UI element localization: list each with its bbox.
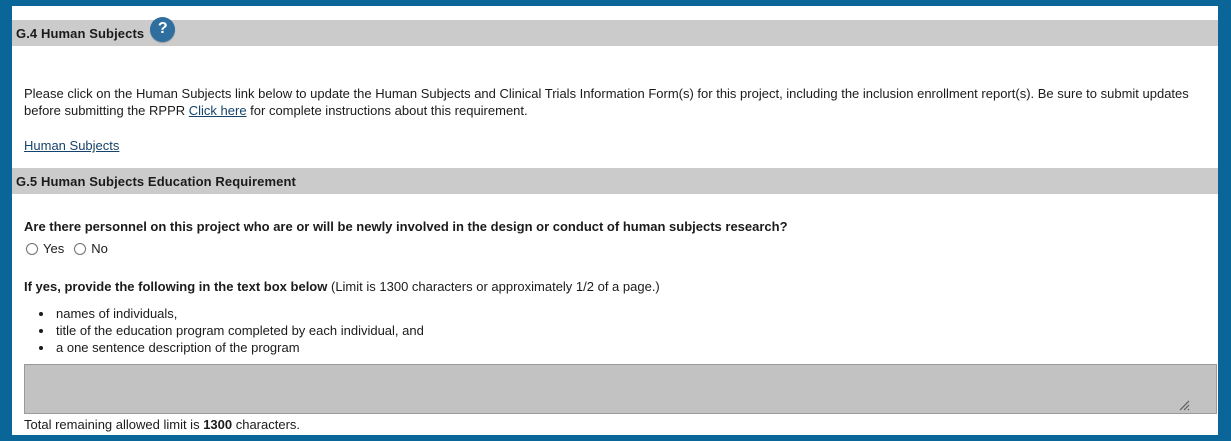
section-title-g4: G.4 Human Subjects bbox=[12, 26, 144, 41]
radio-no-label: No bbox=[91, 241, 108, 256]
radio-option-yes[interactable]: Yes bbox=[26, 241, 64, 256]
radio-yes-label: Yes bbox=[43, 241, 64, 256]
ifyes-bold-text: If yes, provide the following in the tex… bbox=[24, 279, 327, 294]
human-subjects-instructions: Please click on the Human Subjects link … bbox=[24, 85, 1218, 119]
ifyes-instruction: If yes, provide the following in the tex… bbox=[24, 279, 660, 294]
human-subjects-link[interactable]: Human Subjects bbox=[24, 138, 119, 153]
instructions-text-after-link: for complete instructions about this req… bbox=[247, 103, 528, 118]
form-content-area: G.4 Human Subjects ? Please click on the… bbox=[12, 6, 1218, 435]
section-header-g5: G.5 Human Subjects Education Requirement bbox=[12, 168, 1218, 194]
ifyes-limit-note: (Limit is 1300 characters or approximate… bbox=[327, 279, 659, 294]
education-requirements-list: names of individuals, title of the educa… bbox=[24, 305, 424, 356]
education-question-label: Are there personnel on this project who … bbox=[24, 219, 788, 234]
radio-yes-input[interactable] bbox=[26, 243, 38, 255]
limit-count: 1300 bbox=[203, 417, 232, 432]
rppr-form-page: G.4 Human Subjects ? Please click on the… bbox=[0, 0, 1231, 441]
section-title-g5: G.5 Human Subjects Education Requirement bbox=[12, 174, 296, 189]
list-item: title of the education program completed… bbox=[54, 322, 424, 339]
limit-suffix: characters. bbox=[232, 417, 300, 432]
list-item: names of individuals, bbox=[54, 305, 424, 322]
click-here-link[interactable]: Click here bbox=[189, 103, 247, 118]
education-textarea[interactable] bbox=[24, 364, 1217, 414]
list-item: a one sentence description of the progra… bbox=[54, 339, 424, 356]
education-radio-group: Yes No bbox=[26, 241, 118, 256]
section-header-g4: G.4 Human Subjects ? bbox=[12, 20, 1218, 46]
limit-prefix: Total remaining allowed limit is bbox=[24, 417, 203, 432]
radio-option-no[interactable]: No bbox=[74, 241, 108, 256]
remaining-limit-text: Total remaining allowed limit is 1300 ch… bbox=[24, 417, 300, 432]
help-icon-glyph: ? bbox=[158, 21, 168, 37]
radio-no-input[interactable] bbox=[74, 243, 86, 255]
help-icon[interactable]: ? bbox=[150, 17, 175, 42]
